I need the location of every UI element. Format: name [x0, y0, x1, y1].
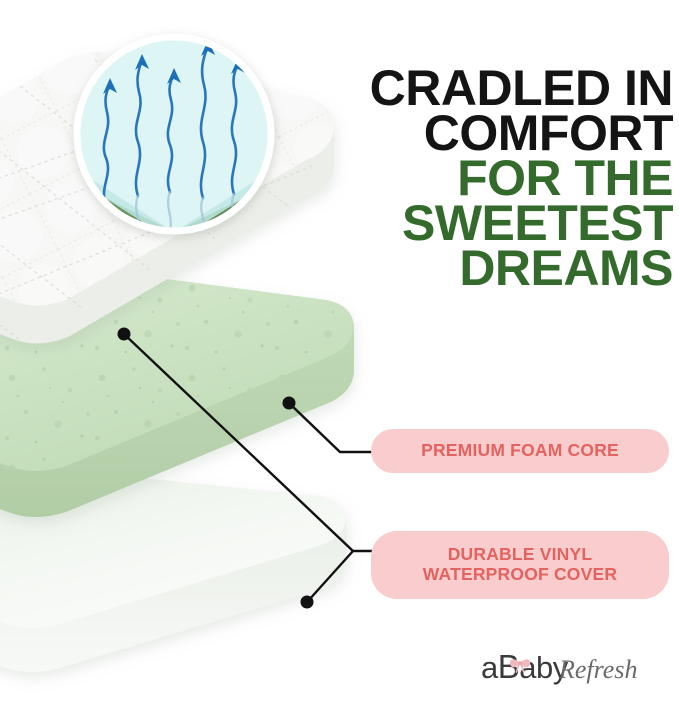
brand-logo: aBaby Refresh [481, 648, 661, 692]
callout-vinyl-line-1: DURABLE VINYL [423, 545, 617, 565]
callout-durable-vinyl-waterproof-cover: DURABLE VINYL WATERPROOF COVER [371, 531, 669, 599]
product-marketing-graphic: CRADLED IN COMFORT FOR THE SWEETEST DREA… [0, 0, 679, 707]
callout-premium-foam-core-label: PREMIUM FOAM CORE [421, 441, 619, 461]
headline-line-5: DREAMS [323, 246, 673, 291]
callout-vinyl-line-2: WATERPROOF COVER [423, 565, 617, 585]
callout-vinyl-label-group: DURABLE VINYL WATERPROOF COVER [423, 545, 617, 584]
callout-premium-foam-core: PREMIUM FOAM CORE [371, 429, 669, 473]
page-title: CRADLED IN COMFORT FOR THE SWEETEST DREA… [323, 66, 673, 291]
brand-logo-refresh: Refresh [558, 655, 637, 684]
